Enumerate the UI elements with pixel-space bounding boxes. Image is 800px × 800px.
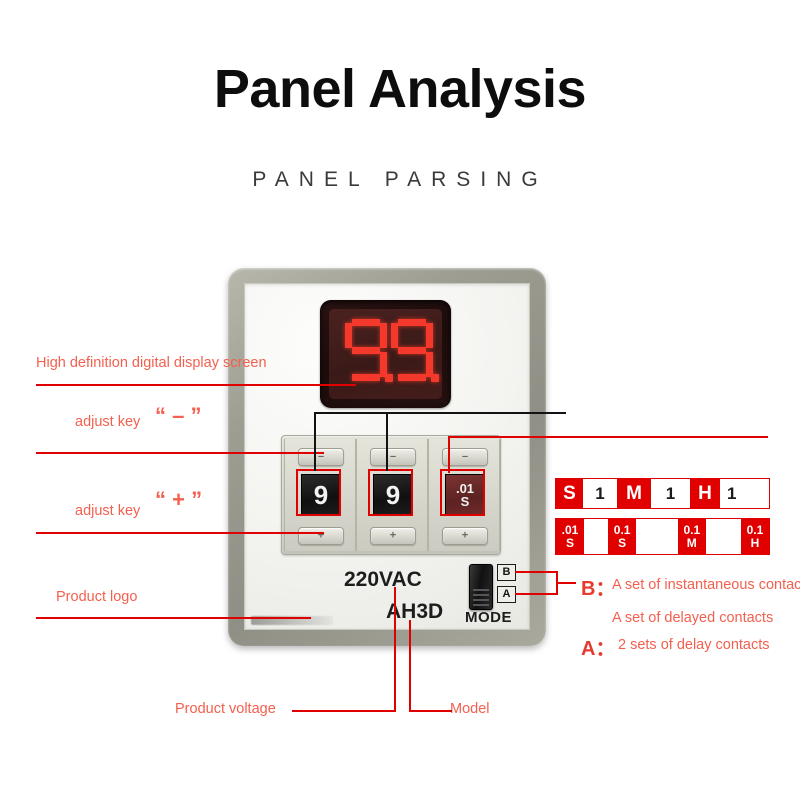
contact-key-b: B：	[581, 572, 615, 601]
leader-black-tw1-v	[314, 413, 316, 471]
page-title: Panel Analysis	[0, 58, 800, 120]
annotation-adjust-plus-symbol: “ + ”	[155, 487, 202, 513]
legend-cell-gap-3	[706, 519, 741, 554]
leader-mode-b-h	[515, 571, 558, 573]
leader-voltage-v	[394, 587, 396, 712]
leader-black-tw2-v	[386, 413, 388, 471]
minus-icon: –	[390, 452, 396, 463]
thumbwheel-3-plus-button[interactable]: +	[442, 527, 488, 545]
leader-mode-out-h	[556, 582, 576, 584]
voltage-label: 220VAC	[344, 568, 422, 592]
annotation-product-voltage: Product voltage	[175, 701, 276, 717]
display-digit-2	[391, 319, 433, 381]
leader-model-v	[409, 620, 411, 712]
leader-display-screen	[36, 384, 356, 386]
legend-cell-gap-2	[636, 519, 678, 554]
annotation-adjust-minus: adjust key	[75, 414, 140, 430]
legend-cell-h: H	[690, 479, 720, 508]
thumbwheel-2-plus-button[interactable]: +	[370, 527, 416, 545]
leader-red-tw3-v	[448, 437, 450, 473]
legend-cell-01h-top: 0.1	[747, 524, 764, 536]
legend-cell-001s: .01 S	[556, 519, 584, 554]
legend-row-1: S 1 M 1 H 1	[555, 478, 770, 509]
annotation-model: Model	[450, 701, 490, 717]
thumbwheel-2-minus-button[interactable]: –	[370, 448, 416, 466]
leader-red-tw3-h	[448, 436, 768, 438]
annotation-display-screen: High definition digital display screen	[36, 355, 267, 371]
legend-cell-01m: 0.1 M	[678, 519, 706, 554]
leader-product-logo	[36, 617, 311, 619]
minus-icon: –	[462, 452, 468, 463]
legend-row-2: .01 S 0.1 S 0.1 M 0.1 H	[555, 518, 770, 555]
contact-text-b: A set of instantaneous contacts	[612, 577, 800, 593]
annotation-adjust-plus: adjust key	[75, 503, 140, 519]
contact-key-a: A：	[581, 632, 615, 661]
contact-text-a: 2 sets of delay contacts	[618, 637, 770, 653]
leader-black-top-h	[314, 412, 566, 414]
leader-adjust-plus	[36, 532, 324, 534]
mode-option-a[interactable]: A	[497, 586, 516, 603]
leader-adjust-minus	[36, 452, 324, 454]
thumbwheel-2-highlight	[368, 469, 413, 516]
legend-cell-01s-bottom: S	[618, 537, 626, 549]
digital-display-screen	[320, 300, 451, 408]
mode-toggle-switch[interactable]	[469, 564, 493, 610]
plus-icon: +	[390, 531, 396, 542]
legend-cell-01h-bottom: H	[751, 537, 760, 549]
mode-label: MODE	[465, 609, 512, 626]
display-digit-1	[345, 319, 387, 381]
legend-cell-h-value: 1	[720, 479, 769, 508]
thumbwheel-1-minus-button[interactable]: –	[298, 448, 344, 466]
legend-cell-01m-top: 0.1	[683, 524, 700, 536]
legend-cell-01s: 0.1 S	[608, 519, 636, 554]
legend-cell-m-value: 1	[651, 479, 690, 508]
legend-cell-01s-top: 0.1	[614, 524, 631, 536]
leader-model-h	[410, 710, 452, 712]
plus-icon: +	[462, 531, 468, 542]
legend-cell-gap-1	[584, 519, 608, 554]
mode-option-b[interactable]: B	[497, 564, 516, 581]
legend-cell-01h: 0.1 H	[741, 519, 769, 554]
legend-cell-001s-bottom: S	[566, 537, 574, 549]
leader-voltage-h	[292, 710, 396, 712]
legend-cell-s-value: 1	[583, 479, 617, 508]
thumbwheel-1-highlight	[296, 469, 341, 516]
annotation-adjust-minus-symbol: “ – ”	[155, 403, 201, 429]
legend-cell-01m-bottom: M	[687, 537, 697, 549]
legend-cell-m: M	[617, 479, 651, 508]
page-subtitle: PANEL PARSING	[0, 168, 800, 192]
leader-mode-a-h	[515, 593, 558, 595]
thumbwheel-1-plus-button[interactable]: +	[298, 527, 344, 545]
screenshot-canvas: Panel Analysis PANEL PARSING	[0, 0, 800, 800]
contact-text-middle: A set of delayed contacts	[612, 610, 773, 626]
annotation-product-logo: Product logo	[56, 589, 137, 605]
legend-cell-001s-top: .01	[562, 524, 579, 536]
legend-cell-s: S	[556, 479, 583, 508]
thumbwheel-3-highlight	[440, 469, 485, 516]
